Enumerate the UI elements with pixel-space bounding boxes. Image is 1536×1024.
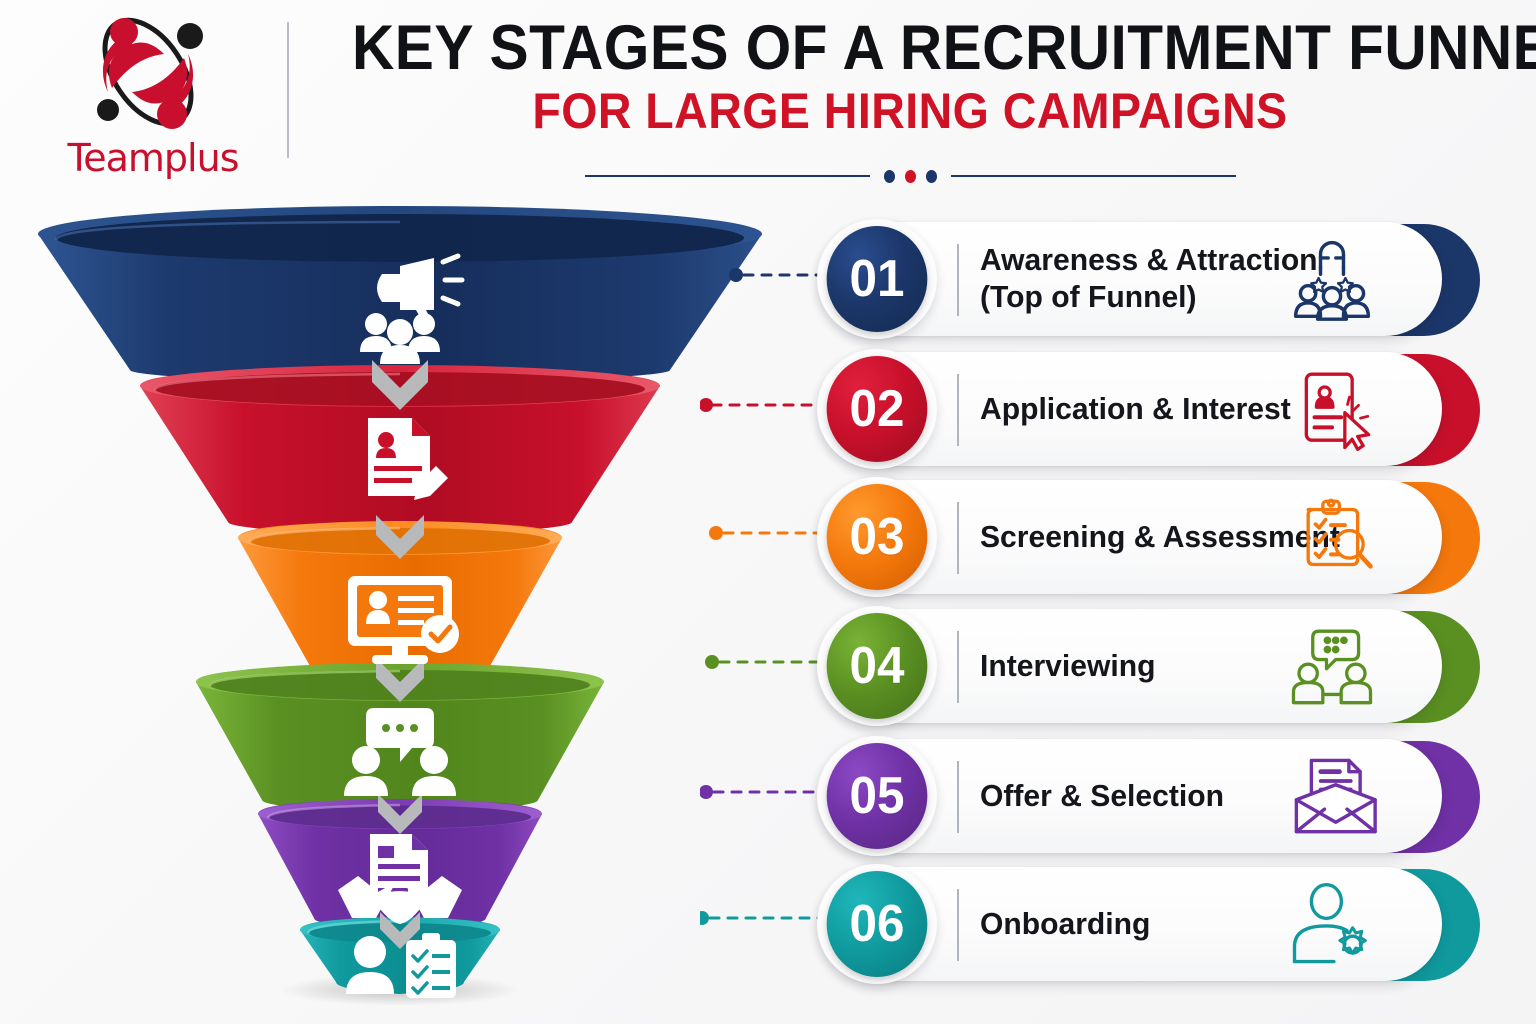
card-label-4: Interviewing <box>980 609 1271 723</box>
stage-number-3: 03 <box>827 484 928 590</box>
card-label-6-line1: Onboarding <box>980 906 1271 943</box>
card-separator-2 <box>957 374 959 446</box>
card-label-5-line1: Offer & Selection <box>980 778 1271 815</box>
recruitment-funnel-graphic <box>0 200 800 1010</box>
stage-card-5[interactable]: 05 Offer & Selection <box>820 739 1480 857</box>
card-body-5[interactable]: 05 Offer & Selection <box>820 739 1442 853</box>
card-label-6: Onboarding <box>980 867 1271 981</box>
stage-card-2[interactable]: 02 Application & Interest <box>820 352 1480 470</box>
card-separator-1 <box>957 244 959 316</box>
card-label-2: Application & Interest <box>980 352 1271 466</box>
connector-dot-3 <box>709 526 723 540</box>
stage-number-2: 02 <box>827 356 928 462</box>
stage-number-1: 01 <box>827 226 928 332</box>
card-body-2[interactable]: 02 Application & Interest <box>820 352 1442 466</box>
offer-letter-envelope-icon <box>1284 750 1380 842</box>
infographic-root: Teamplus KEY STAGES OF A RECRUITMENT FUN… <box>0 0 1536 1024</box>
stage-number-5: 05 <box>827 743 928 849</box>
connector-dot-1 <box>729 268 743 282</box>
divider-dot-3 <box>926 170 937 183</box>
divider-dots <box>884 170 937 183</box>
stage-card-list: 01 Awareness & Attraction (Top of Funnel… <box>820 222 1520 1012</box>
card-body-4[interactable]: 04 Interviewing <box>820 609 1442 723</box>
header: Teamplus KEY STAGES OF A RECRUITMENT FUN… <box>0 0 1536 200</box>
card-separator-4 <box>957 631 959 703</box>
divider-line-right <box>951 175 1236 177</box>
card-label-4-line1: Interviewing <box>980 648 1271 685</box>
card-label-1-line2: (Top of Funnel) <box>980 279 1271 316</box>
interview-chat-icon <box>1284 620 1380 712</box>
card-separator-6 <box>957 889 959 961</box>
card-separator-3 <box>957 502 959 574</box>
card-label-3-line1: Screening & Assessment <box>980 519 1271 556</box>
card-label-1: Awareness & Attraction (Top of Funnel) <box>980 222 1271 336</box>
title-underline-divider <box>310 168 1510 184</box>
card-body-1[interactable]: 01 Awareness & Attraction (Top of Funnel… <box>820 222 1442 336</box>
divider-dot-2 <box>905 170 916 183</box>
card-body-6[interactable]: 06 Onboarding <box>820 867 1442 981</box>
connector-dot-4 <box>705 655 719 669</box>
stage-number-6: 06 <box>827 871 928 977</box>
user-gear-icon <box>1284 878 1380 970</box>
card-separator-5 <box>957 761 959 833</box>
funnel-svg <box>0 200 800 1010</box>
stage-card-3[interactable]: 03 Screening & Assessment <box>820 480 1480 598</box>
connector-dot-6 <box>700 911 709 925</box>
divider-dot-1 <box>884 170 895 183</box>
application-click-icon <box>1284 363 1380 455</box>
header-divider-rule <box>287 22 289 158</box>
stage-card-4[interactable]: 04 Interviewing <box>820 609 1480 727</box>
card-label-5: Offer & Selection <box>980 739 1271 853</box>
stage-card-6[interactable]: 06 Onboarding <box>820 867 1480 985</box>
card-label-3: Screening & Assessment <box>980 480 1271 594</box>
magnet-people-icon <box>1284 233 1380 325</box>
connector-dot-5 <box>700 785 713 799</box>
title-block: KEY STAGES OF A RECRUITMENT FUNNEL FOR L… <box>310 16 1510 137</box>
card-label-2-line1: Application & Interest <box>980 391 1271 428</box>
stage-number-4: 04 <box>827 613 928 719</box>
divider-line-left <box>585 175 870 177</box>
brand-name: Teamplus <box>38 136 268 180</box>
card-body-3[interactable]: 03 Screening & Assessment <box>820 480 1442 594</box>
stage-card-1[interactable]: 01 Awareness & Attraction (Top of Funnel… <box>820 222 1480 340</box>
card-label-1-line1: Awareness & Attraction <box>980 242 1271 279</box>
page-subtitle: FOR LARGE HIRING CAMPAIGNS <box>352 86 1468 137</box>
page-title: KEY STAGES OF A RECRUITMENT FUNNEL <box>352 16 1468 80</box>
clipboard-search-icon <box>1284 491 1380 583</box>
atom-people-logo-icon <box>68 10 228 138</box>
brand-logo: Teamplus <box>38 10 268 180</box>
